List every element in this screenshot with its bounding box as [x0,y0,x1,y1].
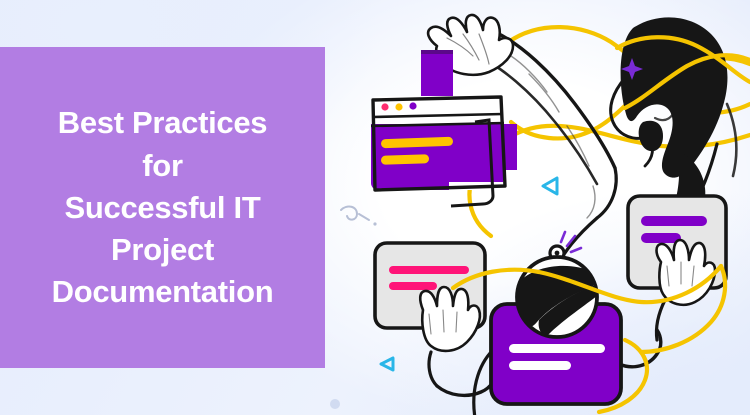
title-panel [0,47,325,368]
robot-line-2 [509,361,571,370]
squiggle-mark [341,207,377,226]
browser-dot-purple [409,102,416,109]
purple-tag-shadow [421,50,453,54]
pink-line-1 [389,266,469,274]
dot-accents [330,399,340,409]
browser-window-card [365,96,517,194]
purple-line-1 [641,216,707,226]
hair [621,17,728,222]
browser-dot-red [381,103,388,110]
pink-line-2 [389,282,437,290]
illustration-svg [325,0,750,415]
illustration [325,0,750,415]
browser-dot-yellow [395,103,402,110]
robot-line-1 [509,344,605,353]
triangle-cyan-lower [381,358,393,370]
banner-root: Best Practices for Successful IT Project… [0,0,750,415]
browser-bar-2 [381,154,429,165]
purple-tag [421,50,453,96]
triangle-cyan-upper [543,178,557,194]
